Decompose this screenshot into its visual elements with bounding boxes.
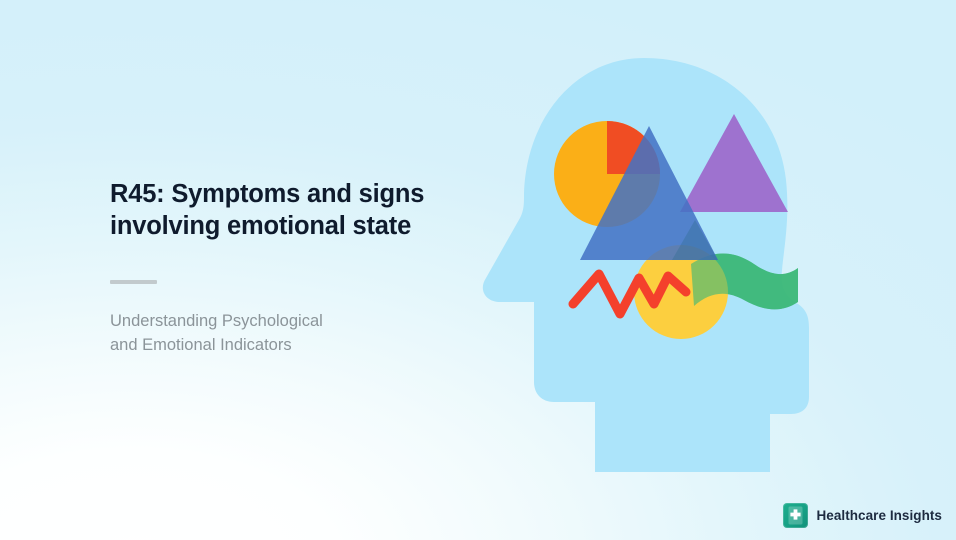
brand-name: Healthcare Insights (817, 508, 943, 523)
divider (110, 280, 157, 284)
medical-cross-icon (783, 503, 808, 528)
illustration-head-charts (468, 52, 820, 472)
brand-lockup: Healthcare Insights (783, 503, 943, 528)
page-subtitle: Understanding Psychological and Emotiona… (110, 310, 460, 358)
title-block: R45: Symptoms and signs involving emotio… (110, 178, 460, 358)
slide-canvas: R45: Symptoms and signs involving emotio… (0, 0, 956, 540)
page-title: R45: Symptoms and signs involving emotio… (110, 178, 460, 242)
